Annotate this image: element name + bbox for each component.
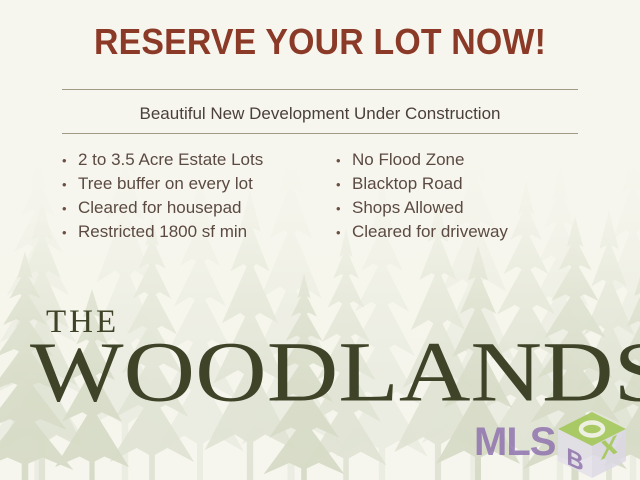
list-item: • Shops Allowed bbox=[336, 196, 582, 220]
flyer-canvas: RESERVE YOUR LOT NOW! Beautiful New Deve… bbox=[0, 0, 640, 480]
list-item-label: Restricted 1800 sf min bbox=[78, 220, 247, 243]
bullet-icon: • bbox=[62, 197, 78, 220]
bullet-icon: • bbox=[336, 173, 352, 196]
list-item-label: Cleared for driveway bbox=[352, 220, 508, 243]
mls-wordmark-text: MLS bbox=[474, 422, 555, 462]
bullet-icon: • bbox=[336, 197, 352, 220]
mls-watermark: MLS B X bbox=[466, 408, 636, 480]
list-item: • Cleared for driveway bbox=[336, 220, 582, 244]
list-item-label: Shops Allowed bbox=[352, 196, 464, 219]
subtitle: Beautiful New Development Under Construc… bbox=[0, 102, 640, 126]
list-item: • 2 to 3.5 Acre Estate Lots bbox=[62, 148, 322, 172]
bullet-icon: • bbox=[62, 221, 78, 244]
feature-list-right: • No Flood Zone • Blacktop Road • Shops … bbox=[322, 148, 582, 244]
bullet-icon: • bbox=[336, 149, 352, 172]
list-item: • Blacktop Road bbox=[336, 172, 582, 196]
bullet-icon: • bbox=[62, 149, 78, 172]
list-item: • Tree buffer on every lot bbox=[62, 172, 322, 196]
page-title: RESERVE YOUR LOT NOW! bbox=[19, 20, 621, 64]
mls-box-cube-icon: B X bbox=[554, 410, 630, 480]
feature-list-left: • 2 to 3.5 Acre Estate Lots • Tree buffe… bbox=[62, 148, 322, 244]
feature-lists: • 2 to 3.5 Acre Estate Lots • Tree buffe… bbox=[62, 148, 582, 244]
list-item-label: Tree buffer on every lot bbox=[78, 172, 253, 195]
list-item: • No Flood Zone bbox=[336, 148, 582, 172]
list-item-label: No Flood Zone bbox=[352, 148, 464, 171]
bullet-icon: • bbox=[336, 221, 352, 244]
list-item-label: Blacktop Road bbox=[352, 172, 463, 195]
list-item-label: Cleared for housepad bbox=[78, 196, 242, 219]
list-item-label: 2 to 3.5 Acre Estate Lots bbox=[78, 148, 263, 171]
list-item: • Restricted 1800 sf min bbox=[62, 220, 322, 244]
list-item: • Cleared for housepad bbox=[62, 196, 322, 220]
divider-bottom bbox=[62, 133, 578, 134]
divider-top bbox=[62, 89, 578, 90]
bullet-icon: • bbox=[62, 173, 78, 196]
